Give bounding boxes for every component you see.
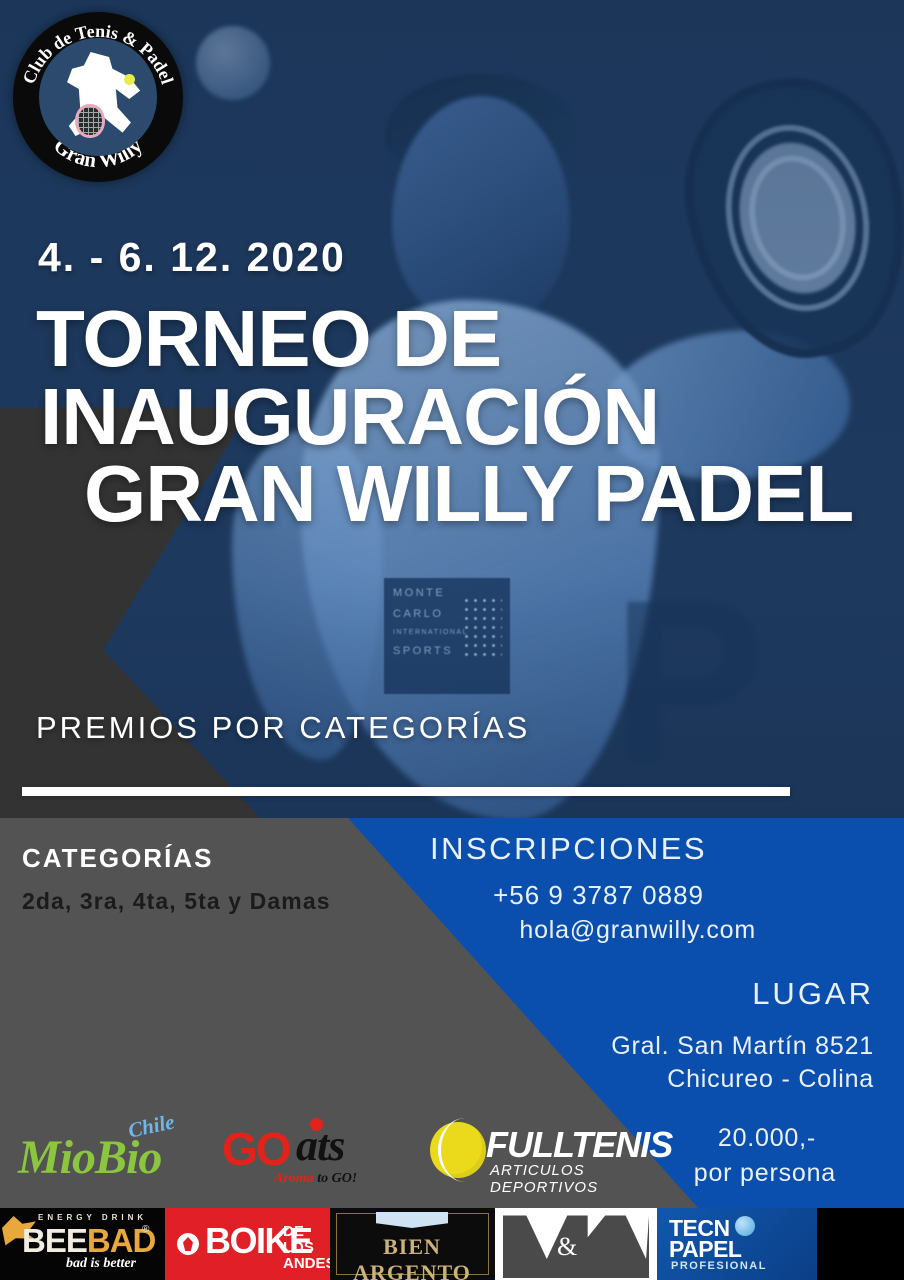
miobio-wordmark: MioBio — [18, 1130, 161, 1185]
tennis-ball-icon — [124, 74, 135, 85]
sponsor-cell-w-and-m: & — [495, 1208, 657, 1280]
patch-line-2: CARLO — [393, 608, 510, 620]
padel-racket-icon — [75, 104, 105, 138]
sponsor-cell-beebad: ENERGY DRINK BEEBAD ® bad is better — [0, 1208, 165, 1280]
goats-tagline-prefix: Aroma — [274, 1171, 314, 1186]
goats-ats-text: ats — [296, 1120, 344, 1171]
venue-heading: LUGAR — [752, 976, 874, 1012]
categories-heading: CATEGORÍAS — [22, 843, 213, 874]
goats-tagline-suffix: to GO! — [317, 1171, 357, 1186]
sponsor-logo-row: Chile MioBio GO ats Aroma to GO! FULLTEN… — [0, 1108, 660, 1200]
price-amount: 20.000,- — [718, 1124, 816, 1153]
title-line-1: TORNEO DE — [36, 300, 876, 378]
boike-subtitle-line2: ANDES — [283, 1256, 330, 1272]
title-line-3: GRAN WILLY PADEL — [36, 455, 876, 533]
beebad-wordmark: BEEBAD — [22, 1222, 155, 1260]
prizes-subtitle: PREMIOS POR CATEGORÍAS — [36, 710, 530, 746]
racket-ring-inner — [738, 147, 857, 290]
boike-subtitle-line1: DE LOS — [283, 1224, 330, 1256]
beebad-slogan: bad is better — [66, 1256, 136, 1272]
boike-subtitle: DE LOS ANDES — [283, 1224, 330, 1271]
bien-argento-wordmark: BIEN ARGENTO — [342, 1234, 482, 1280]
photo-player-cap — [386, 74, 576, 164]
venue-address-line2: Chicureo - Colina — [667, 1065, 874, 1094]
title-line-2: INAUGURACIÓN — [36, 378, 876, 456]
categories-list: 2da, 3ra, 4ta, 5ta y Damas — [22, 888, 331, 915]
contact-email[interactable]: hola@granwilly.com — [519, 916, 756, 945]
sponsor-cell-tecnopapel: TECN PAPEL PROFESIONAL — [657, 1208, 817, 1280]
fulltenis-ball-icon — [430, 1122, 486, 1178]
beebad-tagline-top: ENERGY DRINK — [38, 1213, 147, 1222]
inscriptions-heading: INSCRIPCIONES — [430, 831, 707, 867]
club-badge-logo: Club de Tenis & Padel Gran Willy — [13, 12, 183, 182]
sponsor-logo-fulltenis: FULLTENIS ARTICULOS DEPORTIVOS — [430, 1118, 640, 1188]
patch-line-3: INTERNATIONAL — [393, 629, 510, 636]
photo-watermark-right: P — [612, 548, 765, 813]
sponsor-cell-boike: BOIKE DE LOS ANDES — [165, 1208, 330, 1280]
sponsor-cell-empty — [817, 1208, 904, 1280]
fulltenis-subtitle: ARTICULOS DEPORTIVOS — [490, 1162, 640, 1196]
photo-ball-blur — [196, 26, 270, 100]
beebad-registered-mark: ® — [142, 1224, 149, 1235]
horizontal-divider — [22, 787, 790, 796]
photo-chest-patch: MONTE CARLO INTERNATIONAL SPORTS — [384, 578, 510, 694]
boike-flower-icon — [177, 1233, 199, 1255]
page-title: TORNEO DE INAUGURACIÓN GRAN WILLY PADEL — [36, 300, 876, 533]
racket-ring-outer — [709, 111, 887, 325]
venue-address-line1: Gral. San Martín 8521 — [611, 1032, 874, 1061]
sponsor-cell-bien-argento: BIEN ARGENTO — [330, 1208, 495, 1280]
tecnopapel-circle-icon — [735, 1216, 755, 1236]
sponsor-logo-miobio: Chile MioBio — [18, 1116, 198, 1190]
w-and-m-ampersand: & — [557, 1232, 577, 1262]
tecnopapel-line3: PROFESIONAL — [671, 1260, 767, 1272]
tecnopapel-line2: PAPEL — [669, 1236, 741, 1263]
patch-line-4: SPORTS — [393, 645, 510, 657]
event-dates: 4. - 6. 12. 2020 — [38, 234, 346, 281]
goats-tagline: Aroma to GO! — [274, 1171, 357, 1187]
contact-phone[interactable]: +56 9 3787 0889 — [493, 880, 704, 911]
bottom-sponsor-strip: ENERGY DRINK BEEBAD ® bad is better BOIK… — [0, 1208, 904, 1280]
beebad-word-a: BEE — [22, 1222, 87, 1259]
tournament-poster: P P MONTE CARLO INTERNATIONAL SPORTS Clu… — [0, 0, 904, 1280]
patch-line-1: MONTE — [393, 587, 510, 599]
sponsor-logo-goats: GO ats Aroma to GO! — [222, 1114, 392, 1194]
price-unit: por persona — [694, 1159, 836, 1188]
photo-player-head — [392, 96, 570, 326]
goats-go-text: GO — [222, 1122, 290, 1176]
badge-inner-disc — [39, 38, 157, 156]
patch-dot-pattern — [462, 596, 502, 658]
fulltenis-wordmark: FULLTENIS — [486, 1124, 672, 1166]
